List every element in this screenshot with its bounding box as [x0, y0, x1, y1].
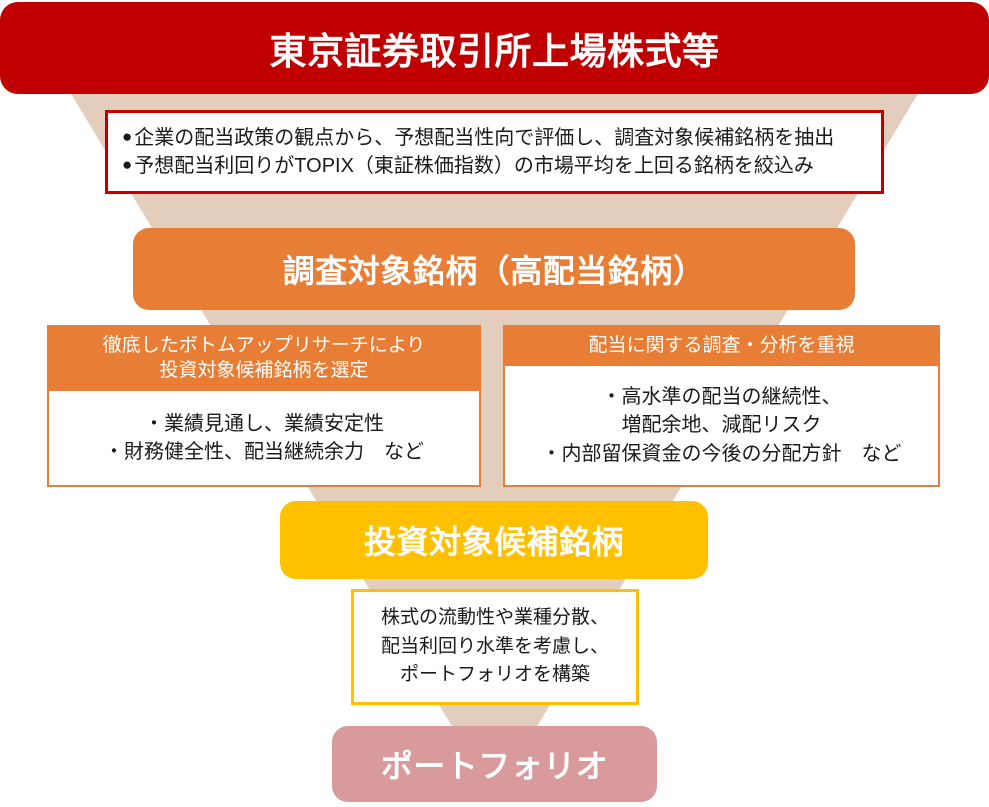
body-line-2: 増配余地、減配リスク [542, 411, 902, 439]
body-line-3: ・内部留保資金の今後の分配方針 など [542, 440, 902, 468]
research-panel-dividend-analysis-heading: 配当に関する調査・分析を重視 [505, 327, 938, 366]
heading-line-2: 投資対象候補銘柄を選定 [55, 358, 473, 383]
research-panel-bottom-up: 徹底したボトムアップリサーチにより 投資対象候補銘柄を選定 ・業績見通し、業績安… [47, 325, 481, 487]
body-line-2: ・財務健全性、配当継続余力 など [104, 438, 424, 466]
body-line-1: ・高水準の配当の継続性、 [542, 383, 902, 411]
criteria-line-2-text: 予想配当利回りがTOPIX（東証株価指数）の市場平均を上回る銘柄を絞込み [134, 155, 814, 177]
stage-banner-universe: 東京証券取引所上場株式等 [0, 2, 989, 94]
criteria-line-1-text: 企業の配当政策の観点から、予想配当性向で評価し、調査対象候補銘柄を抽出 [134, 127, 834, 149]
research-panel-bottom-up-body: ・業績見通し、業績安定性 ・財務健全性、配当継続余力 など [49, 391, 479, 485]
portfolio-construction-note: 株式の流動性や業種分散、 配当利回り水準を考慮し、 ポートフォリオを構築 [351, 589, 639, 705]
research-panel-dividend-analysis-body: ・高水準の配当の継続性、 増配余地、減配リスク ・内部留保資金の今後の分配方針 … [505, 366, 938, 485]
heading-line-1: 配当に関する調査・分析を重視 [511, 333, 932, 358]
bullet-icon: ● [122, 155, 132, 174]
body-line-1: ・業績見通し、業績安定性 [104, 410, 424, 438]
funnel-process-diagram: 東京証券取引所上場株式等 ●企業の配当政策の観点から、予想配当性向で評価し、調査… [0, 0, 989, 807]
stage-banner-investment-candidates: 投資対象候補銘柄 [280, 501, 708, 579]
stage-banner-research-universe: 調査対象銘柄（高配当銘柄） [133, 228, 855, 310]
bullet-icon: ● [122, 127, 132, 146]
research-panel-bottom-up-heading: 徹底したボトムアップリサーチにより 投資対象候補銘柄を選定 [49, 327, 479, 391]
note-line-1: 株式の流動性や業種分散、 [381, 604, 609, 633]
heading-line-1: 徹底したボトムアップリサーチにより [55, 333, 473, 358]
note-line-2: 配当利回り水準を考慮し、 [381, 633, 609, 662]
screening-criteria-box: ●企業の配当政策の観点から、予想配当性向で評価し、調査対象候補銘柄を抽出 ●予想… [105, 110, 884, 194]
research-panel-dividend-analysis: 配当に関する調査・分析を重視 ・高水準の配当の継続性、 増配余地、減配リスク ・… [503, 325, 940, 487]
note-line-3: ポートフォリオを構築 [381, 661, 609, 690]
criteria-line-1: ●企業の配当政策の観点から、予想配当性向で評価し、調査対象候補銘柄を抽出 [122, 124, 867, 152]
stage-banner-portfolio: ポートフォリオ [332, 726, 657, 802]
criteria-line-2: ●予想配当利回りがTOPIX（東証株価指数）の市場平均を上回る銘柄を絞込み [122, 152, 867, 180]
